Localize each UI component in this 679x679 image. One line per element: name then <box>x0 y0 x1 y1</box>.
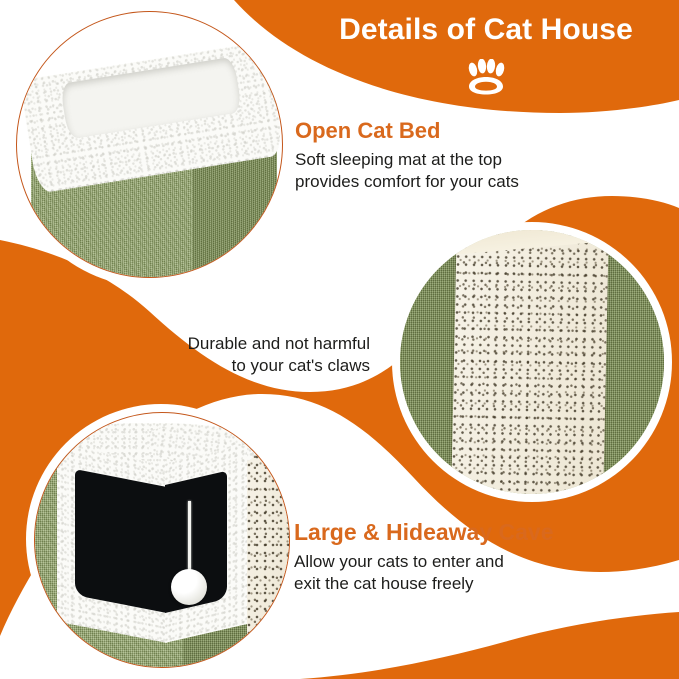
feature-body-line: Durable and not harmful <box>80 333 370 355</box>
cave-opening-left <box>75 469 165 612</box>
scratching-pad-illustration <box>400 230 664 494</box>
feature-body-open-cat-bed: Soft sleeping mat at the top provides co… <box>295 149 519 194</box>
feature-body-line: exit the cat house freely <box>294 573 554 595</box>
sisal-pad-surface <box>451 230 609 494</box>
feature-body-line: Soft sleeping mat at the top <box>295 149 519 171</box>
hideaway-cave-illustration <box>35 413 289 667</box>
feature-heading-open-cat-bed: Open Cat Bed <box>295 117 519 145</box>
cave-entrance-left-face <box>57 444 167 643</box>
feature-body-line: provides comfort for your cats <box>295 171 519 193</box>
feature-body-line: to your cat's claws <box>80 355 370 377</box>
hideaway-cave-photo <box>34 412 290 668</box>
cave-side-sisal-panel <box>247 439 290 668</box>
page-title: Details of Cat House <box>300 13 672 46</box>
feature-heading-hideaway-cave: Large & Hideaway Cave <box>294 518 554 547</box>
feature-text-open-cat-bed: Open Cat Bed Soft sleeping mat at the to… <box>295 117 519 193</box>
bottom-wave-shape <box>300 612 679 679</box>
cat-house-top-illustration <box>17 12 282 277</box>
scratching-pad-photo <box>400 230 664 494</box>
cat-house-details-infographic: Details of Cat House <box>0 0 679 679</box>
pom-pom-ball-toy <box>171 569 207 605</box>
feature-text-hideaway-cave: Large & Hideaway Cave Allow your cats to… <box>294 518 554 596</box>
feature-body-line: Allow your cats to enter and <box>294 551 554 573</box>
feature-heading-scratching-pad: Scratching Pad <box>80 300 370 329</box>
feature-body-scratching-pad: Durable and not harmful to your cat's cl… <box>80 333 370 378</box>
feature-body-hideaway-cave: Allow your cats to enter and exit the ca… <box>294 551 554 596</box>
cat-house-top-photo <box>16 11 283 278</box>
green-linen-right-panel <box>600 230 664 494</box>
cave-entrance-right-face <box>165 444 247 643</box>
feature-text-scratching-pad: Scratching Pad Durable and not harmful t… <box>80 300 370 378</box>
pom-pom-string <box>188 501 191 579</box>
paw-print-icon <box>465 59 507 95</box>
